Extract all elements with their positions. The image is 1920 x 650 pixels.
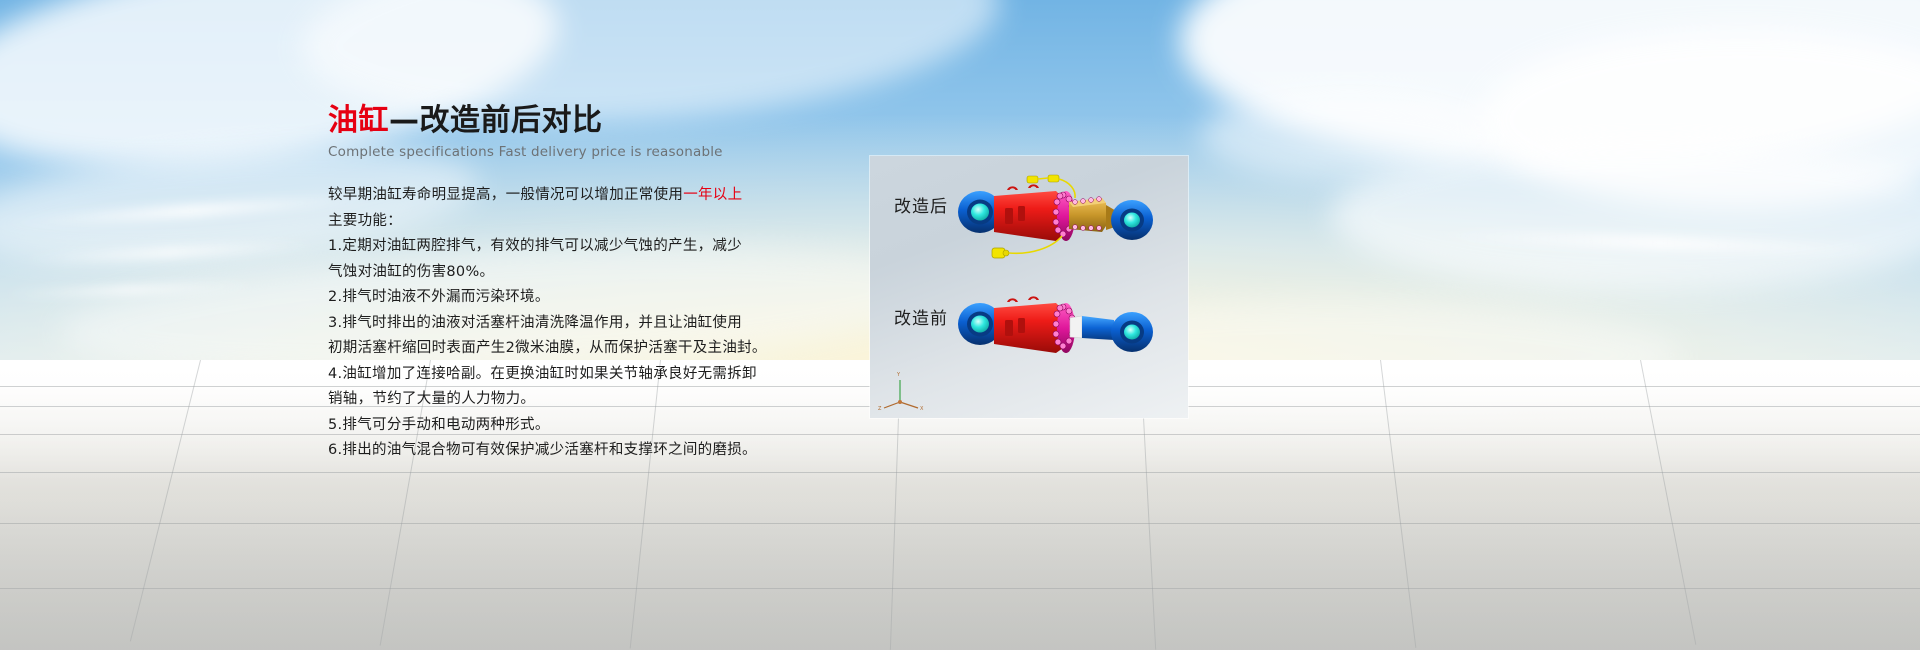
axis-triad-icon: Y X Z <box>878 372 924 412</box>
hero-banner: 油缸—改造前后对比 Complete specifications Fast d… <box>0 0 1920 650</box>
feature-line: 4.油缸增加了连接哈副。在更换油缸时如果关节轴承良好无需拆卸 <box>328 362 828 388</box>
rod-eye-before <box>1111 312 1153 352</box>
page-subtitle: Complete specifications Fast delivery pr… <box>328 144 828 160</box>
cylinder-before-retrofit <box>958 296 1153 353</box>
feature-line: 2.排气时油液不外漏而污染环境。 <box>328 285 828 311</box>
banner-copy: 油缸—改造前后对比 Complete specifications Fast d… <box>328 104 828 464</box>
pavement-line <box>0 472 1920 473</box>
cloud-decor <box>1180 0 1920 170</box>
page-title-highlight: 油缸 <box>328 103 389 138</box>
feature-line-highlight: 一年以上 <box>683 187 742 203</box>
cloud-streak <box>0 281 260 298</box>
page-title: 油缸—改造前后对比 <box>328 104 828 137</box>
cylinder-after-retrofit <box>958 175 1153 258</box>
coupling-half-gold <box>1069 197 1118 232</box>
feature-text-block: 较早期油缸寿命明显提高，一般情况可以增加正常使用一年以上 主要功能： 1.定期对… <box>328 183 828 464</box>
cloud-decor <box>1480 30 1920 210</box>
feature-line: 初期活塞杆缩回时表面产生2微米油膜，从而保护活塞干及主油封。 <box>328 336 828 362</box>
piston-rod-before <box>1070 316 1114 340</box>
feature-line: 气蚀对油缸的伤害80%。 <box>328 260 828 286</box>
svg-text:Y: Y <box>896 372 901 378</box>
product-comparison-panel: 改造后 改造前 <box>870 156 1188 418</box>
feature-line: 5.排气可分手动和电动两种形式。 <box>328 413 828 439</box>
hydraulic-cylinder-cad-drawing: Y X Z <box>870 156 1188 418</box>
feature-line: 3.排气时排出的油液对活塞杆油清洗降温作用，并且让油缸使用 <box>328 311 828 337</box>
svg-text:X: X <box>920 406 924 412</box>
page-title-rest: —改造前后对比 <box>389 103 603 138</box>
cloud-streak <box>20 240 320 265</box>
feature-line: 6.排出的油气混合物可有效保护减少活塞杆和支撑环之间的磨损。 <box>328 438 828 464</box>
feature-line: 主要功能： <box>328 209 828 235</box>
cloud-streak <box>0 192 380 230</box>
feature-line: 销轴，节约了大量的人力物力。 <box>328 387 828 413</box>
feature-line: 1.定期对油缸两腔排气，有效的排气可以减少气蚀的产生，减少 <box>328 234 828 260</box>
feature-line-text: 较早期油缸寿命明显提高，一般情况可以增加正常使用 <box>328 187 683 203</box>
cloud-decor <box>1330 140 1920 290</box>
cloud-decor <box>1200 90 1500 180</box>
pavement-shade <box>0 500 1920 650</box>
pavement-line <box>0 434 1920 435</box>
svg-text:Z: Z <box>878 406 882 412</box>
feature-line: 较早期油缸寿命明显提高，一般情况可以增加正常使用一年以上 <box>328 183 828 209</box>
rod-eye-after <box>1111 200 1153 240</box>
cloud-streak <box>1430 228 1890 258</box>
